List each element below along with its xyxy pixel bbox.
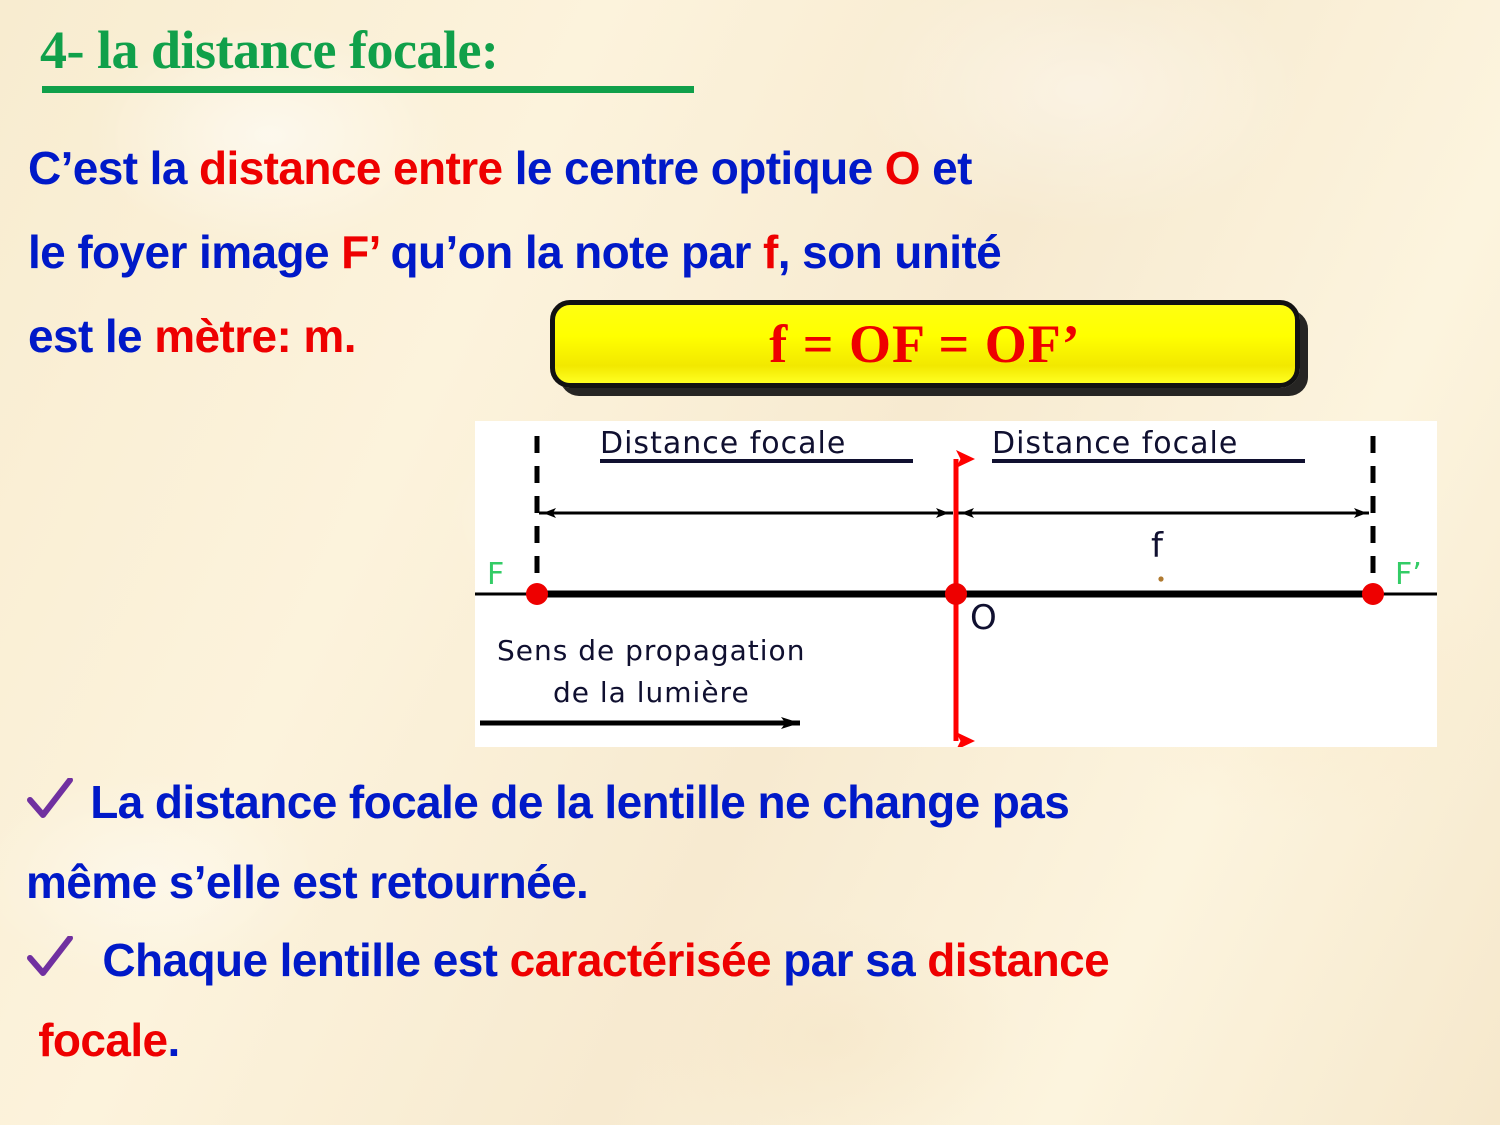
point-F (526, 583, 548, 605)
bullet-2-text-highlight-cont: focale (38, 1014, 167, 1066)
label-propagation-line-2: de la lumière (553, 676, 750, 709)
check-mark-icon (26, 778, 78, 822)
paragraph-seg: qu’on la note par (378, 226, 763, 278)
paragraph-seg: le centre optique (515, 142, 885, 194)
paragraph-seg: et (920, 142, 972, 194)
paragraph-seg-highlight: O (885, 142, 920, 194)
bullet-2-text-highlight: caractérisée (510, 934, 771, 986)
bullet-item-1: La distance focale de la lentille ne cha… (26, 762, 1069, 922)
formula-text: f = OF = OF’ (769, 313, 1080, 375)
page-title: 4- la distance focale: (40, 22, 498, 79)
point-O (945, 583, 967, 605)
label-F: F (487, 557, 504, 592)
label-propagation-line-1: Sens de propagation (497, 634, 805, 667)
paragraph-seg-highlight: f (763, 226, 778, 278)
bullet-2-text: par sa (771, 934, 927, 986)
formula-callout-box: f = OF = OF’ (550, 300, 1300, 388)
paragraph-seg: C’est la (28, 142, 199, 194)
paragraph-line-1: C’est la distance entre le centre optiqu… (28, 126, 1001, 210)
check-mark-icon (26, 936, 78, 980)
page-title-underline (42, 86, 694, 93)
optics-diagram-panel: Distance focale Distance focale F F (475, 421, 1437, 747)
paragraph-seg-highlight: F’ (341, 226, 378, 278)
bullet-2-text-highlight: distance (927, 934, 1109, 986)
bullet-2-text: Chaque lentille est (102, 934, 509, 986)
bullet-1-text: La distance focale de la lentille ne cha… (90, 776, 1069, 828)
bullet-2-line-2: focale. (26, 1000, 1109, 1080)
focal-length-tick-dot (1158, 576, 1163, 581)
label-distance-focale-right: Distance focale (992, 426, 1238, 461)
label-distance-focale-left: Distance focale (600, 426, 846, 461)
bullet-1-line-1: La distance focale de la lentille ne cha… (26, 762, 1069, 842)
bullet-item-2: Chaque lentille est caractérisée par sa … (26, 920, 1109, 1080)
label-focal-length: f (1151, 526, 1164, 566)
paragraph-seg: le foyer image (28, 226, 341, 278)
bullet-2-line-1: Chaque lentille est caractérisée par sa … (26, 920, 1109, 1000)
bullet-1-text-cont: même s’elle est retournée. (26, 856, 588, 908)
paragraph-seg: est le (28, 310, 154, 362)
paragraph-seg-highlight: mètre: m. (154, 310, 356, 362)
paragraph-line-2: le foyer image F’ qu’on la note par f, s… (28, 210, 1001, 294)
slide-canvas: 4- la distance focale: C’est la distance… (0, 0, 1500, 1125)
paragraph-seg-highlight: distance entre (199, 142, 515, 194)
bullet-2-period: . (168, 1014, 180, 1066)
label-F-prime: F’ (1395, 557, 1422, 592)
point-F-prime (1362, 583, 1384, 605)
label-O: O (970, 598, 997, 638)
bullet-1-line-2: même s’elle est retournée. (26, 842, 1069, 922)
paragraph-seg: , son unité (778, 226, 1001, 278)
